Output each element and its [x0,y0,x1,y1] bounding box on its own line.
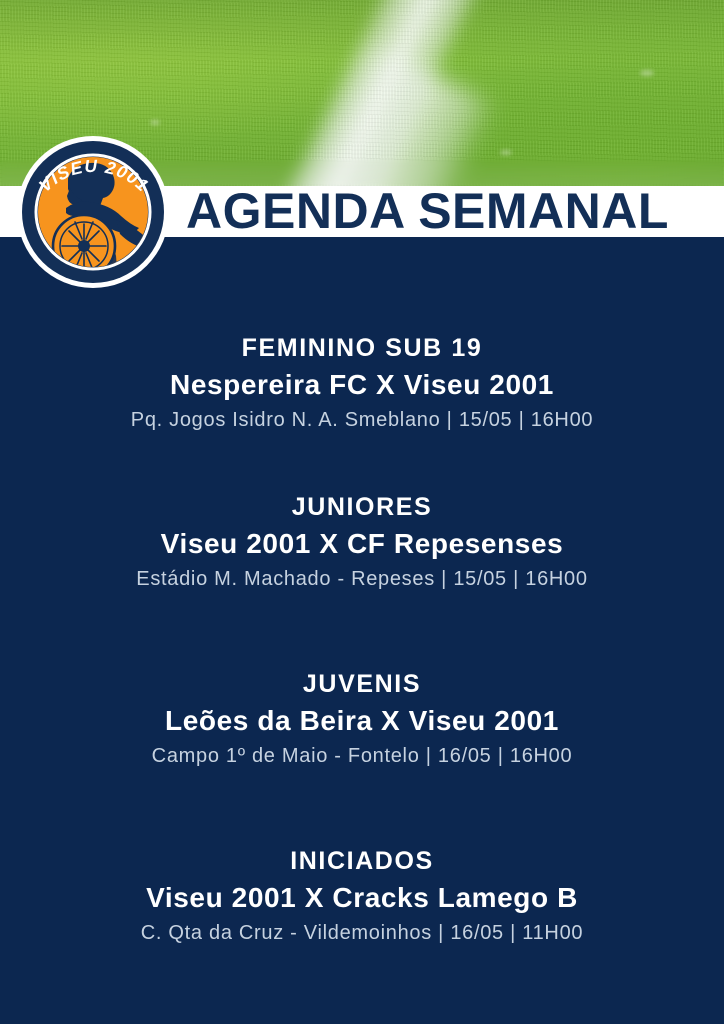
match-block: FEMININO SUB 19 Nespereira FC X Viseu 20… [0,335,724,432]
grass-speck [150,120,160,125]
page-title: AGENDA SEMANAL [186,185,669,238]
match-fixture: Leões da Beira X Viseu 2001 [0,706,724,737]
match-details: C. Qta da Cruz - Vildemoinhos | 16/05 | … [0,922,724,945]
match-details: Pq. Jogos Isidro N. A. Smeblano | 15/05 … [0,409,724,432]
grass-speck [500,150,512,155]
match-block: JUVENIS Leões da Beira X Viseu 2001 Camp… [0,671,724,768]
grass-speck [640,70,654,76]
match-list: FEMININO SUB 19 Nespereira FC X Viseu 20… [0,237,724,945]
agenda-poster: AGENDA SEMANAL [0,0,724,1024]
match-block: JUNIORES Viseu 2001 X CF Repesenses Está… [0,494,724,591]
match-details: Campo 1º de Maio - Fontelo | 16/05 | 16H… [0,745,724,768]
match-fixture: Viseu 2001 X Cracks Lamego B [0,883,724,914]
match-fixture: Viseu 2001 X CF Repesenses [0,529,724,560]
match-category: JUVENIS [0,671,724,697]
match-category: INICIADOS [0,848,724,874]
match-details: Estádio M. Machado - Repeses | 15/05 | 1… [0,568,724,591]
match-block: INICIADOS Viseu 2001 X Cracks Lamego B C… [0,848,724,945]
match-category: FEMININO SUB 19 [0,335,724,361]
match-fixture: Nespereira FC X Viseu 2001 [0,370,724,401]
match-category: JUNIORES [0,494,724,520]
